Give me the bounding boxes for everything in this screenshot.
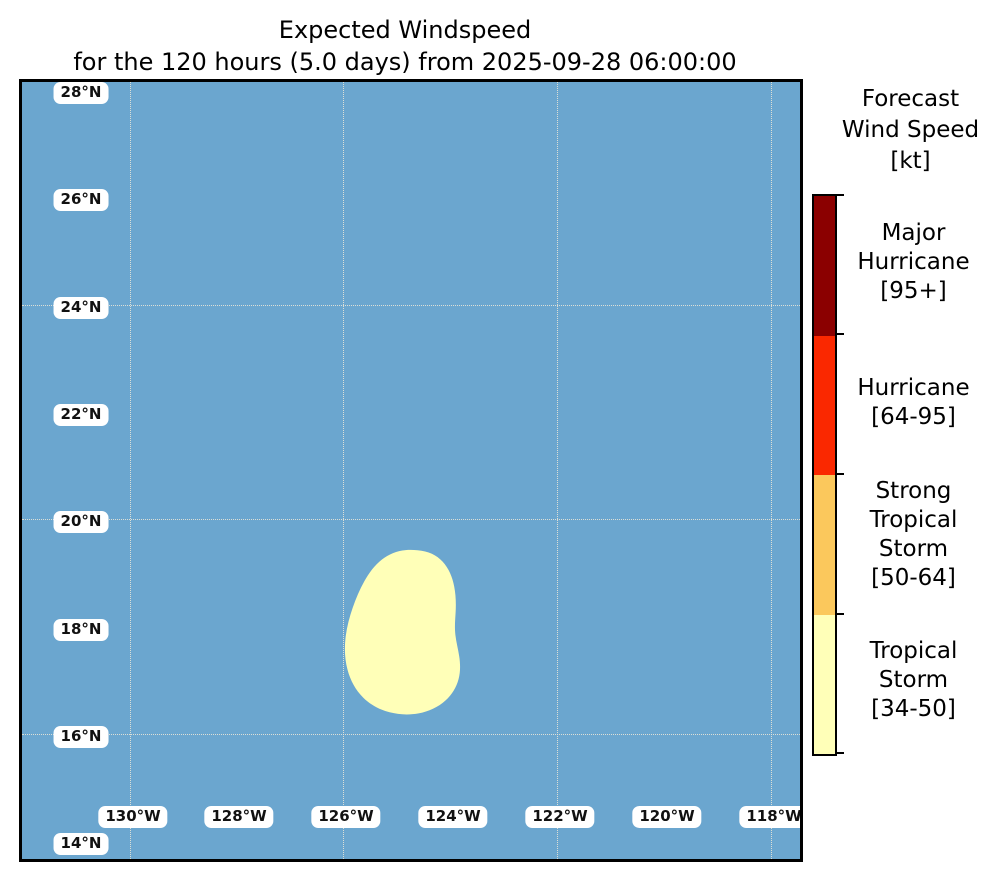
gridline-vertical — [771, 82, 772, 859]
legend-category-line: Storm — [838, 535, 989, 564]
lon-tick-label: 126°W — [311, 806, 380, 828]
lat-tick-label: 14°N — [54, 833, 109, 855]
lon-tick-label: 120°W — [632, 806, 701, 828]
colorbar-tick — [835, 473, 844, 475]
legend-category-line: [95+] — [838, 277, 989, 306]
gridline-horizontal — [22, 734, 800, 735]
ocean-background — [22, 82, 800, 859]
gridline-horizontal — [22, 305, 800, 306]
legend-category-line: Storm — [838, 666, 989, 695]
colorbar-segment-major-hurricane — [814, 196, 835, 336]
legend-category-line: Major — [838, 219, 989, 248]
legend-category-hurricane: Hurricane [64-95] — [838, 374, 989, 432]
lat-tick-label: 22°N — [54, 404, 109, 426]
lat-tick-label: 24°N — [54, 297, 109, 319]
legend-title-line-1: Forecast — [832, 84, 989, 115]
lat-tick-label: 18°N — [54, 619, 109, 641]
lon-tick-label: 122°W — [525, 806, 594, 828]
legend-category-line: Tropical — [838, 637, 989, 666]
legend-title-line-2: Wind Speed — [832, 115, 989, 146]
legend-category-tropical-storm: Tropical Storm [34-50] — [838, 637, 989, 724]
gridline-vertical — [343, 82, 344, 859]
legend-category-line: Hurricane — [838, 248, 989, 277]
legend-category-line: Hurricane — [838, 374, 989, 403]
colorbar-tick — [835, 613, 844, 615]
map-canvas[interactable]: 28°N 26°N 24°N 22°N 20°N 18°N 16°N 14°N … — [19, 79, 803, 862]
legend-category-line: [50-64] — [838, 564, 989, 593]
colorbar-segment-strong-tropical-storm — [814, 475, 835, 615]
legend-title-line-3: [kt] — [832, 146, 989, 177]
gridline-vertical — [557, 82, 558, 859]
colorbar[interactable] — [812, 194, 837, 756]
title-line-2: for the 120 hours (5.0 days) from 2025-0… — [0, 46, 810, 78]
colorbar-segment-tropical-storm — [814, 615, 835, 755]
lon-tick-label: 128°W — [204, 806, 273, 828]
lon-tick-label: 124°W — [418, 806, 487, 828]
lat-tick-label: 26°N — [54, 189, 109, 211]
legend-category-line: Strong — [838, 477, 989, 506]
legend-panel: Forecast Wind Speed [kt] Major Hurricane… — [806, 79, 989, 862]
colorbar-segment-hurricane — [814, 336, 835, 476]
lon-tick-label: 130°W — [98, 806, 167, 828]
legend-category-line: [64-95] — [838, 403, 989, 432]
lon-tick-label: 118°W — [739, 806, 803, 828]
legend-category-strong-tropical-storm: Strong Tropical Storm [50-64] — [838, 477, 989, 593]
colorbar-tick — [835, 333, 844, 335]
gridline-horizontal — [22, 519, 800, 520]
lat-tick-label: 16°N — [54, 726, 109, 748]
colorbar-tick — [835, 752, 844, 754]
page-title: Expected Windspeed for the 120 hours (5.… — [0, 14, 810, 78]
legend-title: Forecast Wind Speed [kt] — [832, 84, 989, 177]
legend-category-line: [34-50] — [838, 695, 989, 724]
colorbar-tick — [835, 194, 844, 196]
legend-category-line: Tropical — [838, 506, 989, 535]
lat-tick-label: 28°N — [54, 82, 109, 104]
gridline-vertical — [130, 82, 131, 859]
lat-tick-label: 20°N — [54, 511, 109, 533]
title-line-1: Expected Windspeed — [0, 14, 810, 46]
legend-category-major-hurricane: Major Hurricane [95+] — [838, 219, 989, 306]
